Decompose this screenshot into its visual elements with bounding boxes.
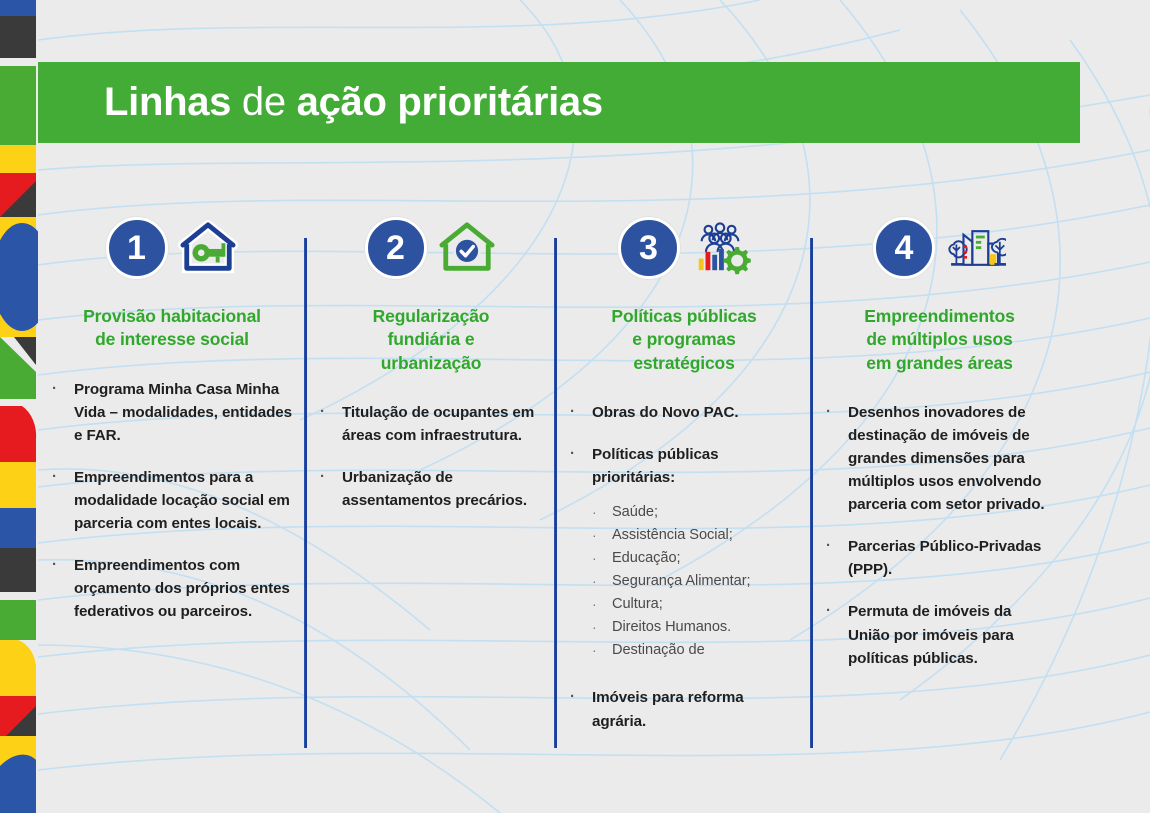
column-1-title-line-1: Provisão habitacional [52,305,292,328]
column-2-title-line-1: Regularização [320,305,542,328]
column-4-title-line-3: em grandes áreas [826,352,1053,375]
column-divider [304,238,307,748]
sub-bullet-text: Assistência Social; [612,524,733,547]
sub-bullet-text: Cultura; [612,593,663,616]
column-2: 2 Regularização fundiária e urbanização … [306,205,556,765]
bullet-dot: · [320,401,342,447]
bullet-item: · Empreendimentos para a modalidade loca… [52,466,292,535]
bullet-text: Urbanização de assentamentos precários. [342,466,542,512]
bullet-item: · Empreendimentos com orçamento dos próp… [52,554,292,623]
bullet-text: Permuta de imóveis da União por imóveis … [848,600,1053,669]
sub-bullet-dot: · [592,524,612,547]
flag-color-strip [0,0,38,813]
check-badge-glyph [453,237,480,264]
column-divider [554,238,557,748]
building-tall-glyph [963,235,972,265]
bullet-text: Titulação de ocupantes em áreas com infr… [342,401,542,447]
people-chart-gear-icon [689,220,751,276]
column-2-number-badge: 2 [365,217,427,279]
bullet-item: · Parcerias Público-Privadas (PPP). [826,535,1053,581]
column-3-title-line-2: e programas [570,328,798,351]
sub-bullet-item: · Saúde; [592,501,798,524]
column-2-bullets: · Titulação de ocupantes em áreas com in… [320,401,542,512]
column-divider [810,238,813,748]
sub-bullet-text: Educação; [612,547,681,570]
column-2-title-line-3: urbanização [320,352,542,375]
sub-bullet-dot: · [592,616,612,639]
bullet-dot: · [320,466,342,512]
bullet-text: Empreendimentos para a modalidade locaçã… [74,466,292,535]
sub-bullet-item: · Educação; [592,547,798,570]
column-3: 3 [556,205,812,765]
page-title-part2: de [231,80,297,124]
column-3-title-line-3: estratégicos [570,352,798,375]
people-glyph [701,223,738,251]
bullet-text: Imóveis para reforma agrária. [592,686,798,732]
columns-container: 1 Provisão habitacional de interesse soc… [38,205,1150,765]
bullet-dot: · [826,600,848,669]
bullet-item: · Desenhos inovadores de destinação de i… [826,401,1053,516]
bullet-item: · Imóveis para reforma agrária. [570,686,798,732]
column-3-title-line-1: Políticas públicas [570,305,798,328]
bullet-text: Desenhos inovadores de destinação de imó… [848,401,1053,516]
bullet-text: Políticas públicas prioritárias: [592,443,798,489]
column-4-title: Empreendimentos de múltiplos usos em gra… [826,305,1053,375]
header-banner: Linhas de ação prioritárias [38,62,1080,143]
page-title-part3: ação prioritárias [297,80,603,124]
sub-bullet-dot: · [592,501,612,524]
sub-bullet-dot: · [592,570,612,593]
bullet-dot: · [570,401,592,424]
bullet-item: · Titulação de ocupantes em áreas com in… [320,401,542,447]
bullet-text: Obras do Novo PAC. [592,401,798,424]
bullet-dot: · [52,378,74,447]
house-key-icon [177,220,239,276]
sub-bullet-text: Direitos Humanos. [612,616,731,639]
key-glyph [192,243,225,262]
bullet-dot: · [826,401,848,516]
sub-bullet-item: · Assistência Social; [592,524,798,547]
bullet-item: · Obras do Novo PAC. [570,401,798,424]
column-1: 1 Provisão habitacional de interesse soc… [38,205,306,765]
bullet-dot: · [52,554,74,623]
sub-bullet-item: · Direitos Humanos. [592,616,798,639]
column-1-title: Provisão habitacional de interesse socia… [52,305,292,352]
bullet-text: Empreendimentos com orçamento dos própri… [74,554,292,623]
column-3-number-badge: 3 [618,217,680,279]
bullet-dot: · [52,466,74,535]
column-4-title-line-2: de múltiplos usos [826,328,1053,351]
bullet-dot: · [570,686,592,732]
gear-glyph [723,247,750,274]
column-1-header: 1 [52,205,292,291]
page-title: Linhas de ação prioritárias [104,80,603,125]
column-4-number-badge: 4 [873,217,935,279]
bullet-dot: · [570,443,592,489]
sub-bullet-text: Segurança Alimentar; [612,570,751,593]
bullet-dot: · [826,535,848,581]
sub-bullet-item: · Segurança Alimentar; [592,570,798,593]
column-2-title-line-2: fundiária e [320,328,542,351]
column-4-title-line-1: Empreendimentos [826,305,1053,328]
column-4-header: 4 [826,205,1053,291]
sub-bullet-item: · Cultura; [592,593,798,616]
sub-bullet-item: · Destinação de [592,639,798,662]
column-3-header: 3 [570,205,798,291]
column-1-bullets: · Programa Minha Casa Minha Vida – modal… [52,378,292,624]
sub-bullet-dot: · [592,547,612,570]
column-3-title: Políticas públicas e programas estratégi… [570,305,798,375]
column-4-bullets: · Desenhos inovadores de destinação de i… [826,401,1053,670]
column-3-sub-bullets: · Saúde; · Assistência Social; · Educaçã… [592,501,798,662]
sub-bullet-text: Destinação de [612,639,705,662]
column-3-bullets: · Obras do Novo PAC. · Políticas pública… [570,401,798,733]
sub-bullet-dot: · [592,593,612,616]
column-1-title-line-2: de interesse social [52,328,292,351]
sub-bullet-text: Saúde; [612,501,658,524]
bullet-item: · Urbanização de assentamentos precários… [320,466,542,512]
column-2-header: 2 [320,205,542,291]
buildings-trees-icon [944,220,1006,276]
bullet-item: · Programa Minha Casa Minha Vida – modal… [52,378,292,447]
bullet-item: · Permuta de imóveis da União por imóvei… [826,600,1053,669]
column-2-title: Regularização fundiária e urbanização [320,305,542,375]
page-title-part1: Linhas [104,80,231,124]
bar-chart-glyph [698,249,723,270]
house-check-icon [436,220,498,276]
bullet-item: · Políticas públicas prioritárias: [570,443,798,489]
building-main-glyph [972,231,988,265]
bullet-text: Parcerias Público-Privadas (PPP). [848,535,1053,581]
sub-bullet-dot: · [592,639,612,662]
bullet-text: Programa Minha Casa Minha Vida – modalid… [74,378,292,447]
column-4: 4 [812,205,1067,765]
column-1-number-badge: 1 [106,217,168,279]
